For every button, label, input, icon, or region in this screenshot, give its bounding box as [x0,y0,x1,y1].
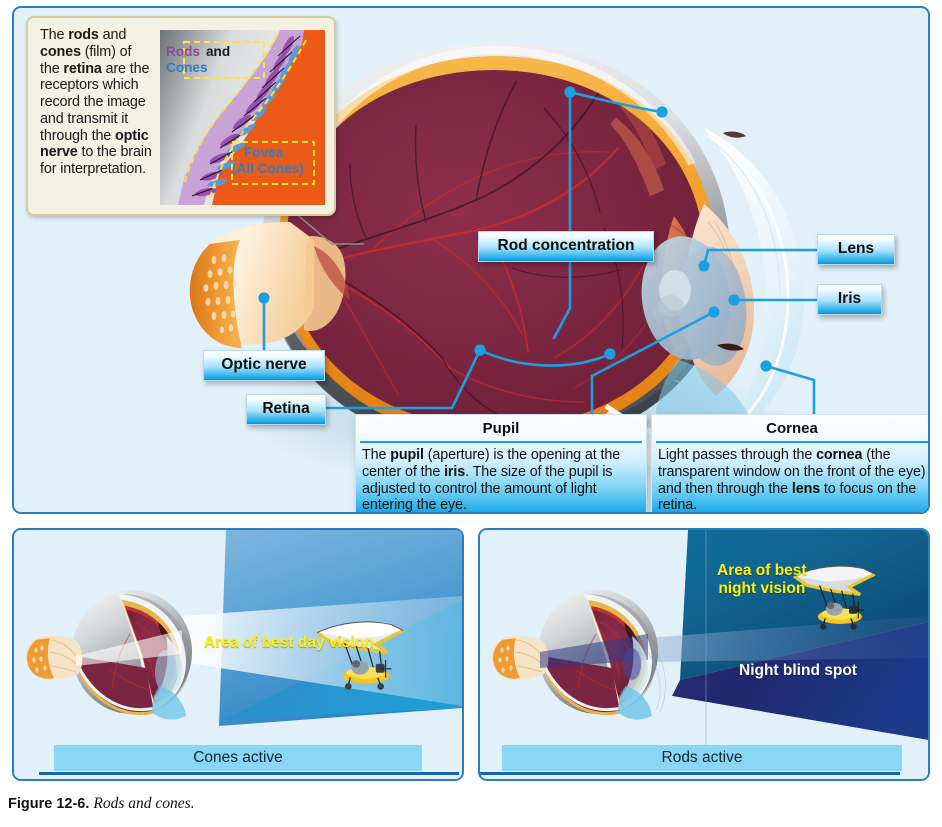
label-lens[interactable]: Lens [817,234,895,265]
night-vision-panel: Area of best night vision Night blind sp… [478,528,930,781]
label-optic-nerve[interactable]: Optic nerve [203,350,325,381]
day-panel-clip: Area of best day vision Cones active [14,530,462,779]
night-vision-illustration [480,530,928,779]
inset-paragraph: The rods and cones (film) of the retina … [40,27,152,178]
callout-cornea: Cornea Light passes through the cornea (… [651,414,928,512]
night-vision-label: Area of best night vision [717,562,807,598]
label-rod-concentration[interactable]: Rod concentration [478,231,654,262]
label-iris[interactable]: Iris [817,284,882,315]
day-vision-panel: Area of best day vision Cones active [12,528,464,781]
rods-cones-diagram: Rods and Cones Fovea (All Cones) [160,30,325,205]
cones-active-rule [39,772,459,775]
inset-label-fovea: Fovea [244,145,283,160]
callout-pupil-rule [360,441,642,443]
figure-caption: Figure 12-6. Rods and cones. [8,795,195,813]
night-panel-clip: Area of best night vision Night blind sp… [480,530,928,779]
figure-page: The rods and cones (film) of the retina … [0,0,942,827]
callout-pupil-title: Pupil [356,415,646,441]
label-retina[interactable]: Retina [246,394,326,425]
main-eye-panel: The rods and cones (film) of the retina … [12,6,930,514]
callout-pupil: Pupil The pupil (aperture) is the openin… [355,414,647,512]
inset-label-and: and [206,44,230,59]
callout-pupil-body: The pupil (aperture) is the opening at t… [356,447,646,512]
cones-active-bar: Cones active [54,745,422,771]
night-vision-label-line2: night vision [718,580,805,597]
figure-number: Figure 12-6. [8,796,89,812]
rods-active-bar: Rods active [502,745,902,771]
night-blind-spot-label: Night blind spot [739,662,857,680]
rods-cones-inset: The rods and cones (film) of the retina … [26,16,336,216]
inset-label-cones: Cones [166,60,208,75]
callout-cornea-title: Cornea [652,415,928,441]
main-panel-clip: The rods and cones (film) of the retina … [14,8,928,512]
inset-label-fovea-sub: (All Cones) [232,161,304,176]
inset-label-rods: Rods [166,44,200,59]
figure-title: Rods and cones. [93,795,194,812]
day-vision-label: Area of best day vision [204,634,374,652]
rods-active-rule [480,772,900,775]
day-vision-illustration [14,530,462,779]
callout-cornea-rule [656,441,928,443]
callout-cornea-body: Light passes through the cornea (the tra… [652,447,928,512]
night-vision-label-line1: Area of best [717,562,807,579]
